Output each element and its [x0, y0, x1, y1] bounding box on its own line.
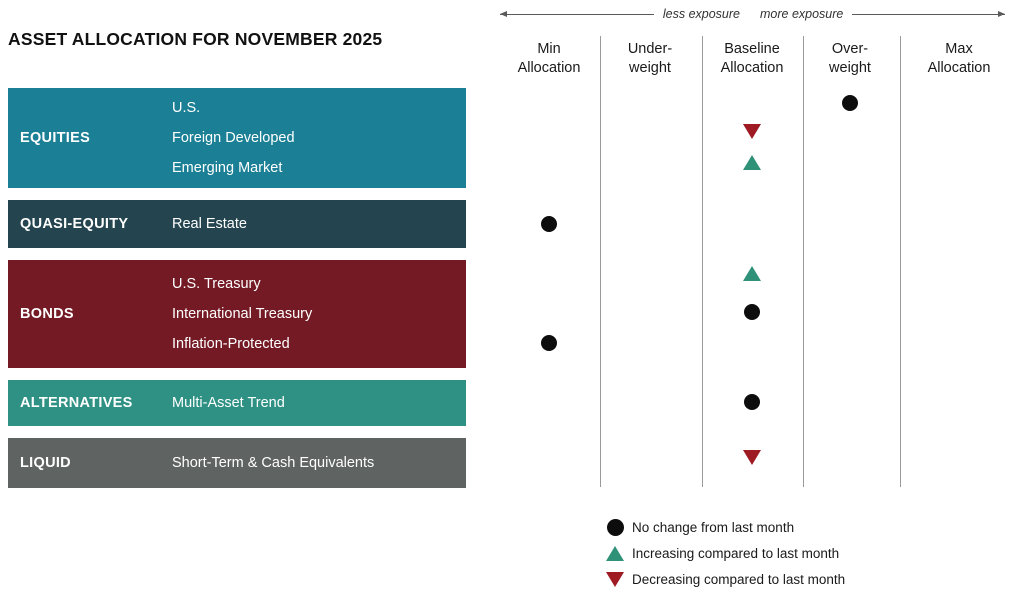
asset-list: Multi-Asset Trend	[172, 388, 466, 418]
asset-list: Short-Term & Cash Equivalents	[172, 448, 466, 478]
allocation-marker-increasing	[743, 266, 761, 281]
category-name: EQUITIES	[8, 130, 172, 146]
more-exposure-label: more exposure	[760, 7, 843, 21]
legend: No change from last monthIncreasing comp…	[598, 514, 845, 592]
category-name: LIQUID	[8, 455, 172, 471]
less-exposure-label: less exposure	[663, 7, 740, 21]
legend-glyph-decreasing	[598, 572, 632, 587]
category-block: LIQUIDShort-Term & Cash Equivalents	[8, 438, 466, 488]
column-divider	[803, 36, 804, 487]
more-exposure-indicator: more exposure	[760, 4, 1005, 24]
column-header: Over-weight	[798, 40, 902, 78]
asset-label: Multi-Asset Trend	[172, 388, 466, 418]
increasing-icon	[606, 546, 624, 561]
category-name: ALTERNATIVES	[8, 395, 172, 411]
allocation-marker-no-change	[744, 304, 760, 320]
category-block: ALTERNATIVESMulti-Asset Trend	[8, 380, 466, 426]
less-exposure-indicator: less exposure	[500, 4, 740, 24]
asset-list: Real Estate	[172, 209, 466, 239]
column-header-line2: Allocation	[497, 59, 601, 78]
column-header: BaselineAllocation	[700, 40, 804, 78]
column-header: Under-weight	[598, 40, 702, 78]
column-header: MinAllocation	[497, 40, 601, 78]
asset-label: International Treasury	[172, 299, 466, 329]
asset-list: U.S.Foreign DevelopedEmerging Market	[172, 93, 466, 183]
allocation-table-panel: ASSET ALLOCATION FOR NOVEMBER 2025 EQUIT…	[0, 0, 480, 592]
legend-row: No change from last month	[598, 514, 845, 540]
allocation-marker-no-change	[744, 394, 760, 410]
asset-label: Inflation-Protected	[172, 329, 466, 359]
category-name: QUASI-EQUITY	[8, 216, 172, 232]
right-arrow-icon	[852, 14, 1005, 15]
arrow-head-right-icon	[998, 11, 1005, 17]
asset-label: U.S.	[172, 93, 466, 123]
legend-row: Increasing compared to last month	[598, 540, 845, 566]
category-block: QUASI-EQUITYReal Estate	[8, 200, 466, 248]
column-header-line2: weight	[798, 59, 902, 78]
legend-label: No change from last month	[632, 520, 794, 535]
column-divider	[900, 36, 901, 487]
asset-label: Short-Term & Cash Equivalents	[172, 448, 466, 478]
category-block: EQUITIESU.S.Foreign DevelopedEmerging Ma…	[8, 88, 466, 188]
allocation-marker-increasing	[743, 155, 761, 170]
column-header-line1: Under-	[598, 40, 702, 59]
column-divider	[600, 36, 601, 487]
asset-label: Real Estate	[172, 209, 466, 239]
column-divider	[702, 36, 703, 487]
column-header-line2: weight	[598, 59, 702, 78]
legend-glyph-no-change	[598, 519, 632, 536]
allocation-marker-decreasing	[743, 124, 761, 139]
column-header-line2: Allocation	[700, 59, 804, 78]
arrow-head-left-icon	[500, 11, 507, 17]
allocation-marker-no-change	[842, 95, 858, 111]
decreasing-icon	[606, 572, 624, 587]
page-title: ASSET ALLOCATION FOR NOVEMBER 2025	[8, 29, 382, 50]
asset-label: Emerging Market	[172, 153, 466, 183]
column-header-line1: Over-	[798, 40, 902, 59]
no-change-icon	[607, 519, 624, 536]
column-header-line1: Min	[497, 40, 601, 59]
column-header-line1: Baseline	[700, 40, 804, 59]
column-header-line2: Allocation	[907, 59, 1011, 78]
exposure-scale-panel: less exposure more exposure MinAllocatio…	[480, 0, 1025, 592]
category-block: BONDSU.S. TreasuryInternational Treasury…	[8, 260, 466, 368]
legend-glyph-increasing	[598, 546, 632, 561]
allocation-marker-no-change	[541, 216, 557, 232]
column-header: MaxAllocation	[907, 40, 1011, 78]
legend-label: Increasing compared to last month	[632, 546, 839, 561]
legend-label: Decreasing compared to last month	[632, 572, 845, 587]
category-name: BONDS	[8, 306, 172, 322]
allocation-marker-decreasing	[743, 450, 761, 465]
asset-label: U.S. Treasury	[172, 269, 466, 299]
allocation-marker-no-change	[541, 335, 557, 351]
asset-list: U.S. TreasuryInternational TreasuryInfla…	[172, 269, 466, 359]
asset-label: Foreign Developed	[172, 123, 466, 153]
legend-row: Decreasing compared to last month	[598, 566, 845, 592]
left-arrow-icon	[500, 14, 654, 15]
column-header-line1: Max	[907, 40, 1011, 59]
